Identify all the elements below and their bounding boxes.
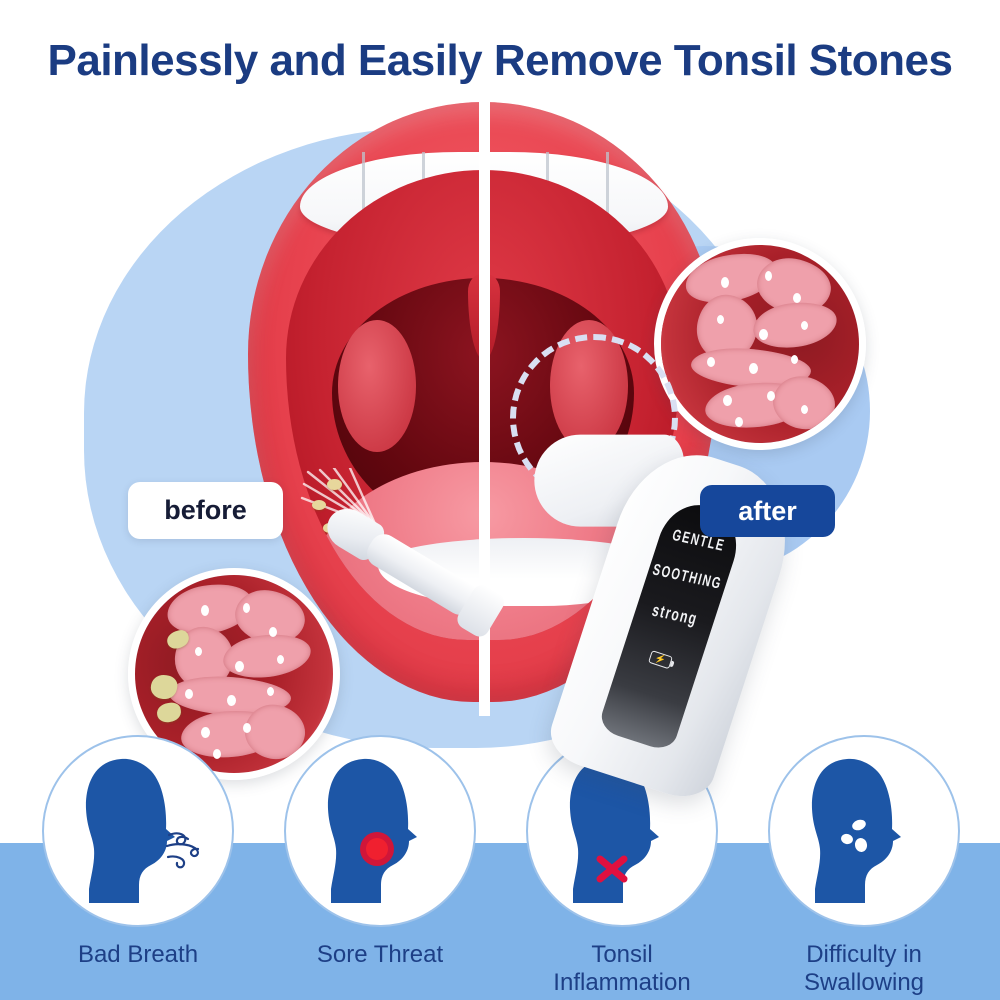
hero-illustration: GENTLE SOOTHING strong ⚡ xyxy=(0,96,1000,776)
after-tonsil-closeup xyxy=(654,238,866,450)
after-badge: after xyxy=(700,485,835,537)
benefit-label: Bad Breath xyxy=(78,941,198,969)
product-infographic: Painlessly and Easily Remove Tonsil Ston… xyxy=(0,0,1000,1000)
benefit-label: Difficulty in Swallowing xyxy=(804,941,924,997)
benefit-bad-breath[interactable]: Bad Breath xyxy=(26,735,250,969)
battery-charging-icon: ⚡ xyxy=(648,650,673,669)
page-title: Painlessly and Easily Remove Tonsil Ston… xyxy=(0,36,1000,86)
benefit-sore-throat[interactable]: Sore Threat xyxy=(268,735,492,969)
benefits-row: Bad Breath Sore Threat xyxy=(0,735,1000,1000)
dislodged-stone-2 xyxy=(312,500,326,510)
tonsil-left xyxy=(338,320,416,452)
benefit-label: Tonsil Inflammation xyxy=(553,941,690,997)
head-sore-throat-icon xyxy=(305,751,455,911)
before-badge-label: before xyxy=(164,495,247,526)
dislodged-stone-1 xyxy=(327,479,342,490)
head-bad-breath-icon xyxy=(63,751,213,911)
head-difficulty-swallowing-icon xyxy=(789,751,939,911)
benefit-circle xyxy=(284,735,476,927)
bolt-glyph: ⚡ xyxy=(654,654,667,666)
before-badge: before xyxy=(128,482,283,539)
benefit-circle xyxy=(42,735,234,927)
mode-label-strong[interactable]: strong xyxy=(650,600,700,629)
benefit-label: Sore Threat xyxy=(317,941,443,969)
mode-label-soothing[interactable]: SOOTHING xyxy=(651,562,724,594)
after-badge-label: after xyxy=(738,496,797,527)
benefit-circle xyxy=(768,735,960,927)
